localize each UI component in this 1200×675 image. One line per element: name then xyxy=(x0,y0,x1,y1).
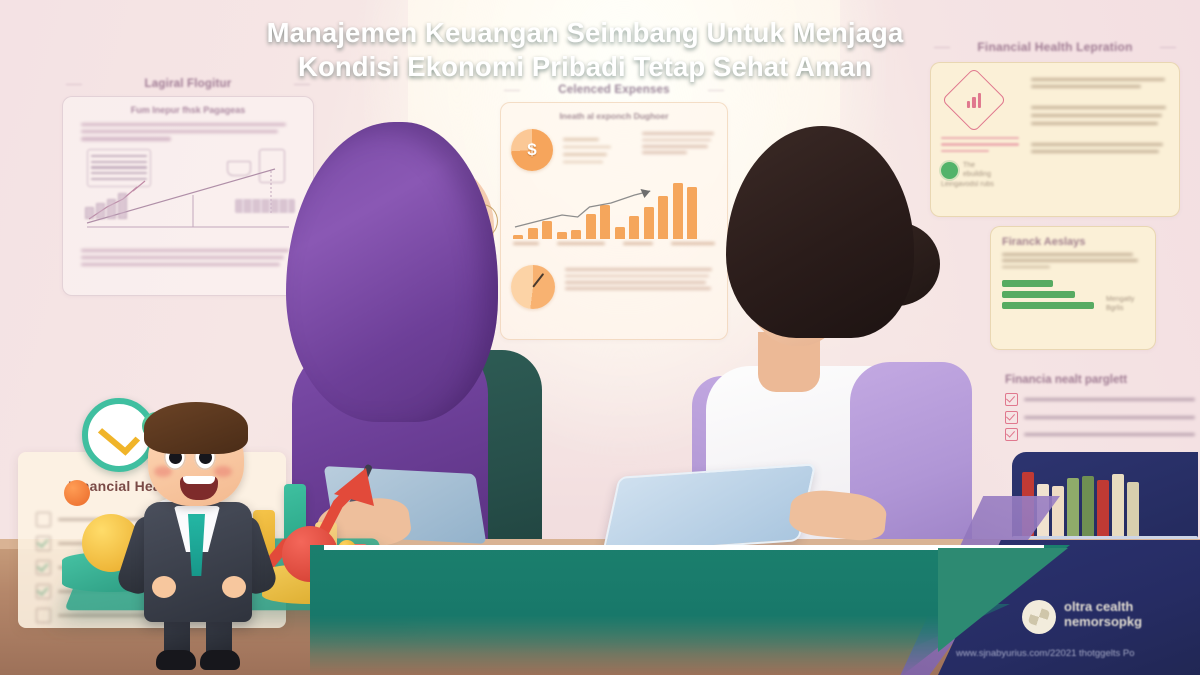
panel-left-clipboard-icon xyxy=(259,149,285,183)
mascot-shoe-right xyxy=(200,650,240,670)
banner-top-rule xyxy=(324,545,1044,550)
panel-center-title: Celenced Expenses xyxy=(500,84,728,96)
brand-logo-icon xyxy=(1022,600,1056,634)
check-icon xyxy=(1005,411,1018,424)
panel-right-checklist-title: Financia nealt parglett xyxy=(1005,374,1195,386)
list-item xyxy=(1005,393,1195,406)
mascot-3d-businessman xyxy=(128,398,268,666)
panel-left-cart-icon xyxy=(227,161,251,176)
mascot-hand-right xyxy=(222,576,246,598)
panel-right-analysis-title: Firanck Aeslays xyxy=(1002,236,1144,248)
check-icon xyxy=(1005,393,1018,406)
mascot-hair xyxy=(144,402,248,454)
panel-right-analysis-paragraph xyxy=(1002,253,1144,268)
panel-center-note-bottom xyxy=(565,265,717,293)
panel-left-infographic: Lagiral Flogitur Fum Inepur fhsk Pagagea… xyxy=(62,78,314,310)
mascot-shoe-left xyxy=(156,650,196,670)
panel-right-health-paragraphs xyxy=(1031,73,1169,188)
analysis-side-label-1: Mengatly xyxy=(1106,295,1144,304)
woman-hijab-headscarf xyxy=(286,122,498,422)
panel-center-legend xyxy=(563,129,632,168)
woman-bun-hair xyxy=(726,126,914,338)
panel-left-paragraph-bottom xyxy=(81,249,295,267)
list-item xyxy=(1005,411,1195,424)
analysis-side-label-2: Bgrlis xyxy=(1106,304,1144,313)
panel-right-analysis-card: Firanck Aeslays Mengatly Bgrlis xyxy=(990,226,1156,350)
panel-left-paragraph-top xyxy=(81,123,295,141)
analysis-green-bars xyxy=(1002,276,1100,313)
title-line-2: Kondisi Ekonomi Pribadi Tetap Sehat Aman xyxy=(40,50,1130,84)
brand-name: oltra cealth nemorsopkg xyxy=(1064,600,1142,630)
tablet-device xyxy=(602,463,816,554)
page-title: Manajemen Keuangan Seimbang Untuk Menjag… xyxy=(0,16,1200,83)
watermark-url: www.sjnabyurius.com/22021 thotggelts Po xyxy=(956,648,1135,659)
mascot-blush-right xyxy=(214,466,232,477)
panel-left-subtitle: Fum Inepur fhsk Pagageas xyxy=(75,105,301,115)
panel-left-bars xyxy=(85,193,127,219)
title-line-1: Manajemen Keuangan Seimbang Untuk Menjag… xyxy=(40,16,1130,50)
panel-right-analysis: Firanck Aeslays Mengatly Bgrlis xyxy=(990,226,1156,350)
list-item xyxy=(1005,428,1195,441)
check-icon xyxy=(1005,428,1018,441)
checklist-items xyxy=(1005,393,1195,441)
illustration-canvas: Lagiral Flogitur Fum Inepur fhsk Pagagea… xyxy=(0,0,1200,675)
mascot-hand-left xyxy=(152,576,176,598)
panel-left-card: Fum Inepur fhsk Pagageas xyxy=(62,96,314,296)
